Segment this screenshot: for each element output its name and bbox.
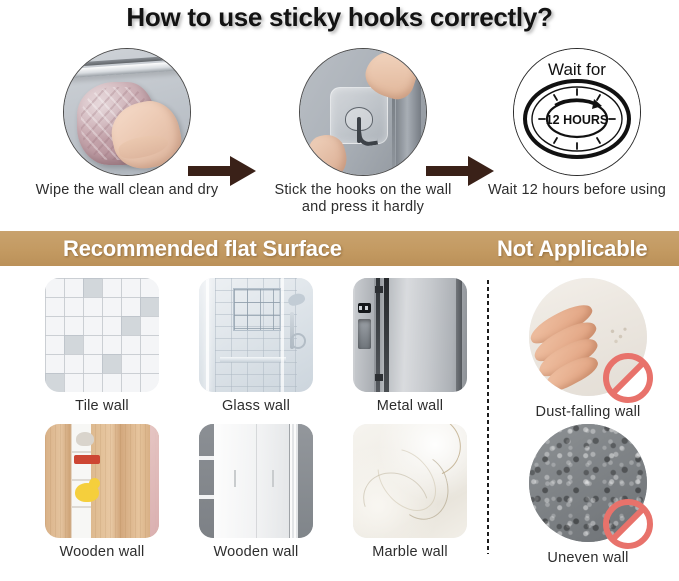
metal-wall-thumb (353, 278, 467, 392)
marble-slab (353, 424, 467, 538)
door-grooves (290, 424, 298, 538)
step-wait-image: 12 HOURS Wait for (513, 48, 641, 176)
shelf-item-toy (76, 432, 94, 446)
glass-scene (199, 278, 313, 392)
cabinet-doors (214, 424, 289, 538)
step-stick-image (299, 48, 427, 176)
handle-right (272, 470, 274, 487)
dust-particles (605, 325, 631, 346)
step-wipe-image (63, 48, 191, 176)
side-shelf (199, 424, 214, 538)
steps-row: Wipe the wall clean and dry Stick the ho… (0, 48, 679, 213)
marble-wall-caption: Marble wall (320, 544, 500, 560)
wooden-wall-caption-1: Wooden wall (12, 544, 192, 560)
wooden-wall-thumb (45, 424, 159, 538)
section-banner: Recommended flat Surface Not Applicable (0, 231, 679, 266)
white-wardrobe-thumb (199, 424, 313, 538)
hinge-top (375, 286, 383, 293)
clock-center-label: 12 HOURS (546, 113, 609, 127)
door-gap-right (384, 278, 389, 392)
surface-grid: Tile wall Glass wall (0, 272, 679, 581)
banner-not-applicable-label: Not Applicable (497, 236, 647, 262)
side-wall (150, 424, 159, 538)
dust-falling-wall-caption: Dust-falling wall (498, 404, 678, 420)
refrigerator (353, 278, 467, 392)
hinge-bottom (375, 374, 383, 381)
door-right-edge (456, 278, 462, 392)
tile-wall-caption: Tile wall (12, 398, 192, 414)
marble-wall-thumb (353, 424, 467, 538)
white-wardrobe (199, 424, 313, 538)
glass-wall-thumb (199, 278, 313, 392)
infographic-root: How to use sticky hooks correctly? Wipe … (0, 0, 679, 581)
adhesive-hook-plate (330, 87, 387, 144)
door-split (256, 424, 257, 538)
glass-wall-caption: Glass wall (166, 398, 346, 414)
page-title: How to use sticky hooks correctly? (0, 2, 679, 33)
wood-grain (45, 424, 159, 538)
tile-wall-thumb (45, 278, 159, 392)
oak-wardrobe (45, 424, 159, 538)
handle-left (234, 470, 236, 487)
window (233, 288, 281, 331)
shelf-item-book (74, 455, 100, 464)
wooden-wall-caption-2: Wooden wall (166, 544, 346, 560)
shelf-ledge (220, 357, 286, 362)
metal-wall-caption: Metal wall (320, 398, 500, 414)
dotted-divider (487, 280, 489, 554)
prohibited-icon (602, 498, 654, 550)
side-panel (298, 424, 313, 538)
water-dispenser (358, 319, 372, 349)
clock-top-label: Wait for (548, 60, 606, 79)
uneven-wall-caption: Uneven wall (498, 550, 678, 566)
step-wait-caption: Wait 12 hours before using (452, 182, 679, 199)
banner-recommended-label: Recommended flat Surface (63, 236, 342, 262)
control-display (358, 303, 372, 313)
shower-knob (290, 333, 306, 349)
prohibited-icon (602, 352, 654, 404)
shelf-item-duck (75, 483, 99, 502)
tile-pattern (45, 278, 159, 392)
glass-door-edge-left (206, 278, 209, 392)
clock-illustration: 12 HOURS Wait for (514, 49, 640, 175)
glass-door-edge-right (281, 278, 284, 392)
